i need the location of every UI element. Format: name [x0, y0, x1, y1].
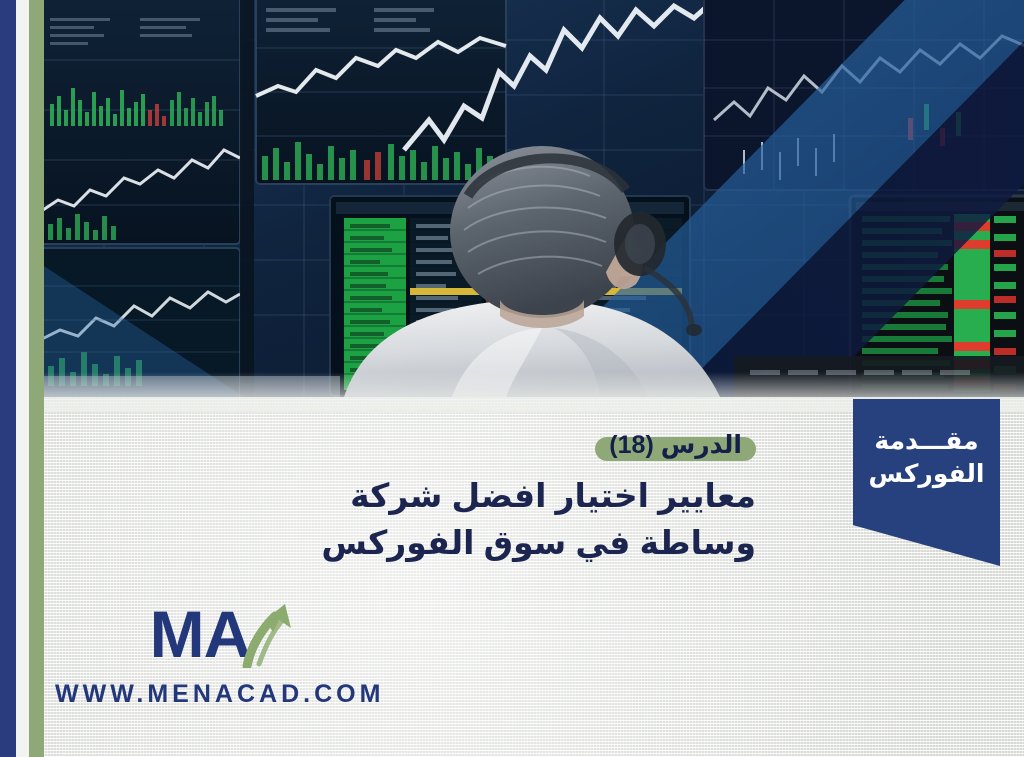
badge-line-1: مقـــدمة — [867, 425, 986, 458]
logo-monogram: MA — [150, 600, 251, 668]
left-navy-strip — [0, 0, 16, 757]
title-line-1: معايير اختيار افضل شركة — [196, 473, 756, 520]
left-olive-strip — [29, 0, 44, 757]
lesson-number-label: الدرس (18) — [609, 431, 742, 459]
menacad-logo: MA WWW.MENACAD.COM — [55, 600, 375, 709]
hero-photo-illustration — [44, 0, 1024, 397]
logo-monogram-row: MA — [55, 600, 375, 668]
up-trend-arrow-icon — [241, 602, 297, 668]
headline-block: الدرس (18) معايير اختيار افضل شركة وساطة… — [196, 430, 756, 567]
poster-canvas: مقـــدمة الفوركس الدرس (18) معايير اختيا… — [0, 0, 1024, 757]
hero-photo — [44, 0, 1024, 397]
badge-line-2: الفوركس — [867, 458, 986, 491]
lesson-number-badge: الدرس (18) — [595, 430, 756, 463]
title-line-2: وساطة في سوق الفوركس — [196, 520, 756, 567]
logo-website-url: WWW.MENACAD.COM — [55, 680, 375, 709]
lesson-label-wrap: الدرس (18) — [196, 430, 756, 463]
left-white-strip — [16, 0, 29, 757]
